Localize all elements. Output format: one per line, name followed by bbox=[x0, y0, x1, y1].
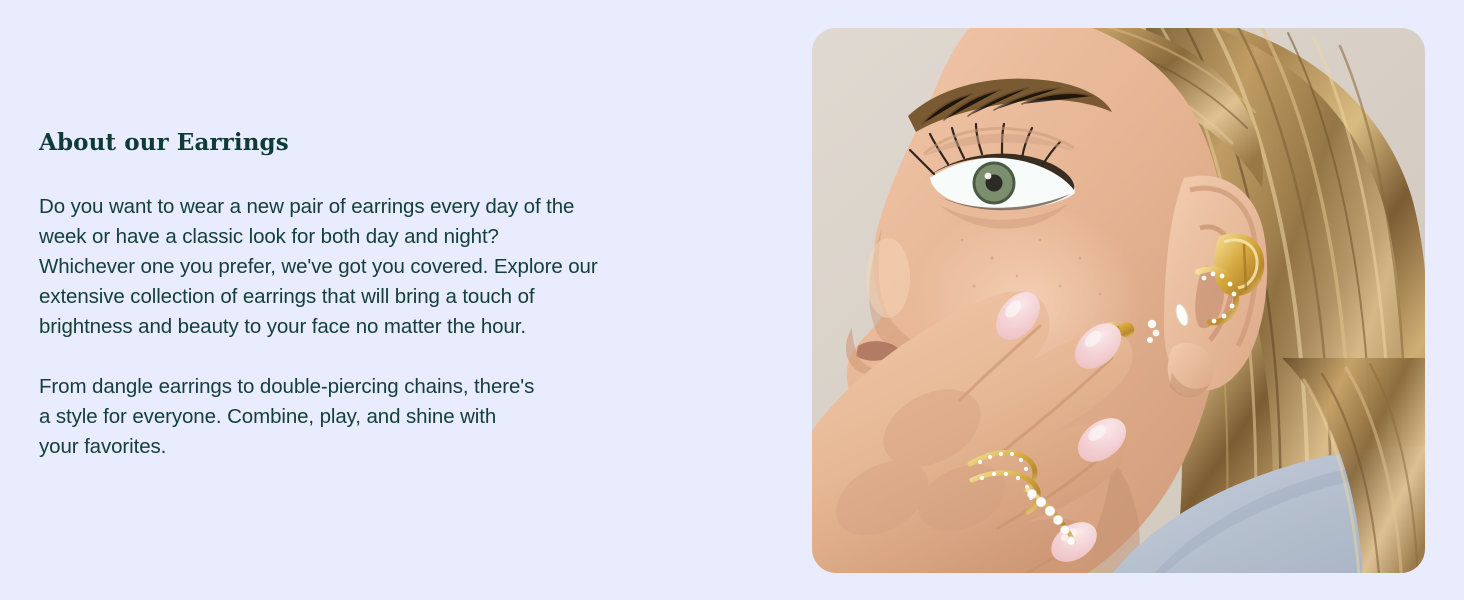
eye-catchlight bbox=[985, 173, 992, 180]
body-paragraph-1: Do you want to wear a new pair of earrin… bbox=[39, 192, 739, 342]
paragraph-line: brightness and beauty to your face no ma… bbox=[39, 312, 739, 342]
model-photo bbox=[812, 28, 1425, 573]
model-photo-illustration bbox=[812, 28, 1425, 573]
text-column: About our Earrings Do you want to wear a… bbox=[39, 128, 739, 462]
paragraph-line: week or have a classic look for both day… bbox=[39, 222, 739, 252]
page-title: About our Earrings bbox=[39, 128, 739, 158]
paragraph-line: your favorites. bbox=[39, 432, 739, 462]
paragraph-line: From dangle earrings to double-piercing … bbox=[39, 372, 739, 402]
paragraph-line: a style for everyone. Combine, play, and… bbox=[39, 402, 739, 432]
body-paragraph-2: From dangle earrings to double-piercing … bbox=[39, 372, 739, 462]
about-earrings-banner: About our Earrings Do you want to wear a… bbox=[0, 0, 1464, 600]
paragraph-line: Do you want to wear a new pair of earrin… bbox=[39, 192, 739, 222]
nose-highlight bbox=[866, 238, 910, 318]
paragraph-line: extensive collection of earrings that wi… bbox=[39, 282, 739, 312]
paragraph-line: Whichever one you prefer, we've got you … bbox=[39, 252, 739, 282]
